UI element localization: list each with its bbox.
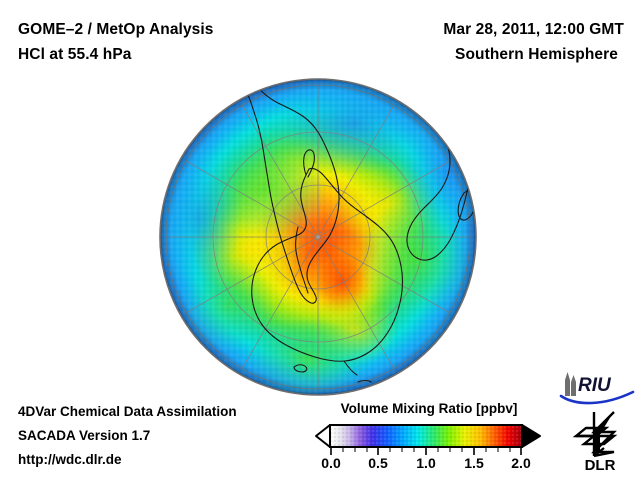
dlr-logo: DLR (570, 410, 634, 474)
colorbar-tick-label: 1.0 (416, 455, 436, 470)
south-pole-marker (316, 235, 320, 239)
colorbar-tick-label: 0.5 (368, 455, 388, 470)
riu-logo: RIU (558, 370, 636, 408)
cathedral-spires-icon (565, 372, 576, 396)
riu-wordmark: RIU (578, 375, 612, 396)
colorbar-title: Volume Mixing Ratio [ppbv] (312, 400, 546, 418)
colorbar-tick-label: 1.5 (464, 455, 484, 470)
footer-left-block: 4DVar Chemical Data Assimilation SACADA … (18, 400, 318, 472)
colorbar-ticks (331, 447, 521, 455)
version-label: SACADA Version 1.7 (18, 424, 318, 448)
colorbar-tick-label: 2.0 (511, 455, 531, 470)
dlr-wordmark: DLR (585, 457, 616, 474)
header-right-block: Mar 28, 2011, 12:00 GMT Southern Hemisph… (294, 17, 624, 67)
timestamp-label: Mar 28, 2011, 12:00 GMT (294, 17, 624, 42)
colorbar-svg: 0.0 0.5 1.0 1.5 2.0 (312, 422, 546, 470)
colorbar-right-cap-arrow (522, 425, 540, 447)
colorbar-block: Volume Mixing Ratio [ppbv] (312, 400, 546, 470)
website-link[interactable]: http://wdc.dlr.de (18, 448, 318, 472)
colorbar-major-ticks (331, 447, 521, 455)
colorbar-dither-texture (330, 425, 522, 447)
orthographic-projection-svg (158, 77, 478, 397)
method-label: 4DVar Chemical Data Assimilation (18, 400, 318, 424)
globe-map (158, 77, 478, 397)
colorbar-tick-label: 0.0 (321, 455, 341, 470)
colorbar-tick-labels: 0.0 0.5 1.0 1.5 2.0 (321, 455, 531, 470)
region-label: Southern Hemisphere (294, 42, 624, 67)
colorbar-left-cap-arrow (316, 425, 330, 447)
